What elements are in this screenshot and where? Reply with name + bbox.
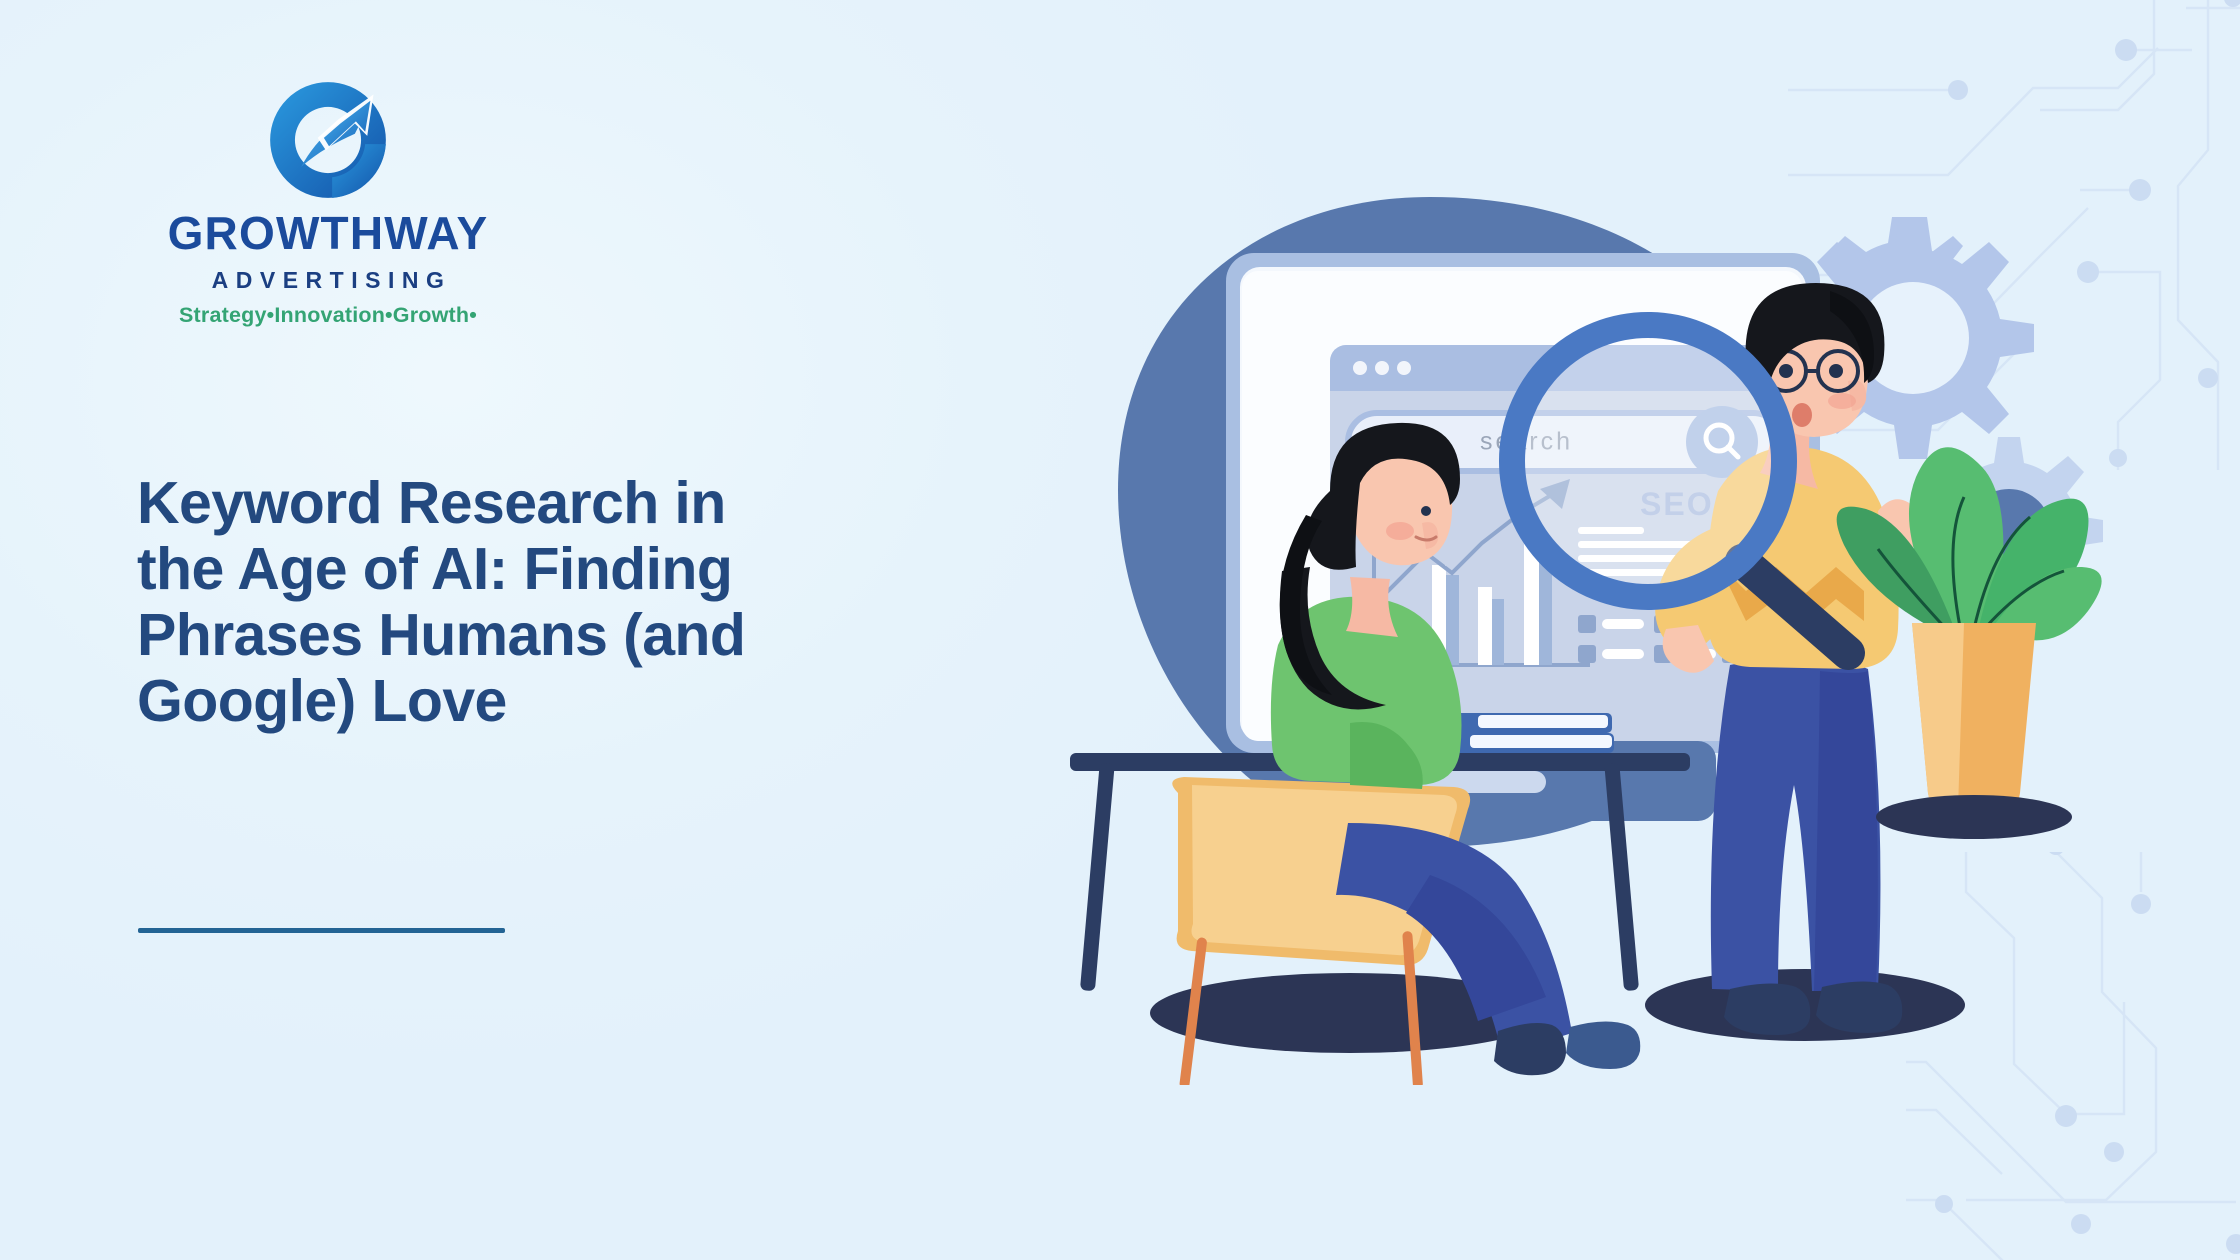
brand-tagline: Strategy•Innovation•Growth•	[138, 303, 518, 328]
illustration-svg: search	[1030, 175, 2150, 1085]
book-stack	[1442, 713, 1614, 753]
brand-block: GROWTHWAY ADVERTISING Strategy•Innovatio…	[138, 78, 518, 328]
title-divider	[138, 928, 505, 933]
page-title-line-4: Google) Love	[137, 668, 937, 734]
growthway-logo-icon	[266, 78, 390, 202]
page-title-line-2: the Age of AI: Finding	[137, 536, 937, 602]
hero-illustration: search	[1030, 175, 2150, 1085]
page-title-line-3: Phrases Humans (and	[137, 602, 937, 668]
page-title: Keyword Research in the Age of AI: Findi…	[137, 470, 937, 734]
page-title-line-1: Keyword Research in	[137, 470, 937, 536]
brand-name: GROWTHWAY	[138, 210, 518, 256]
poster-canvas: GROWTHWAY ADVERTISING Strategy•Innovatio…	[0, 0, 2240, 1260]
brand-subtitle: ADVERTISING	[138, 267, 518, 294]
